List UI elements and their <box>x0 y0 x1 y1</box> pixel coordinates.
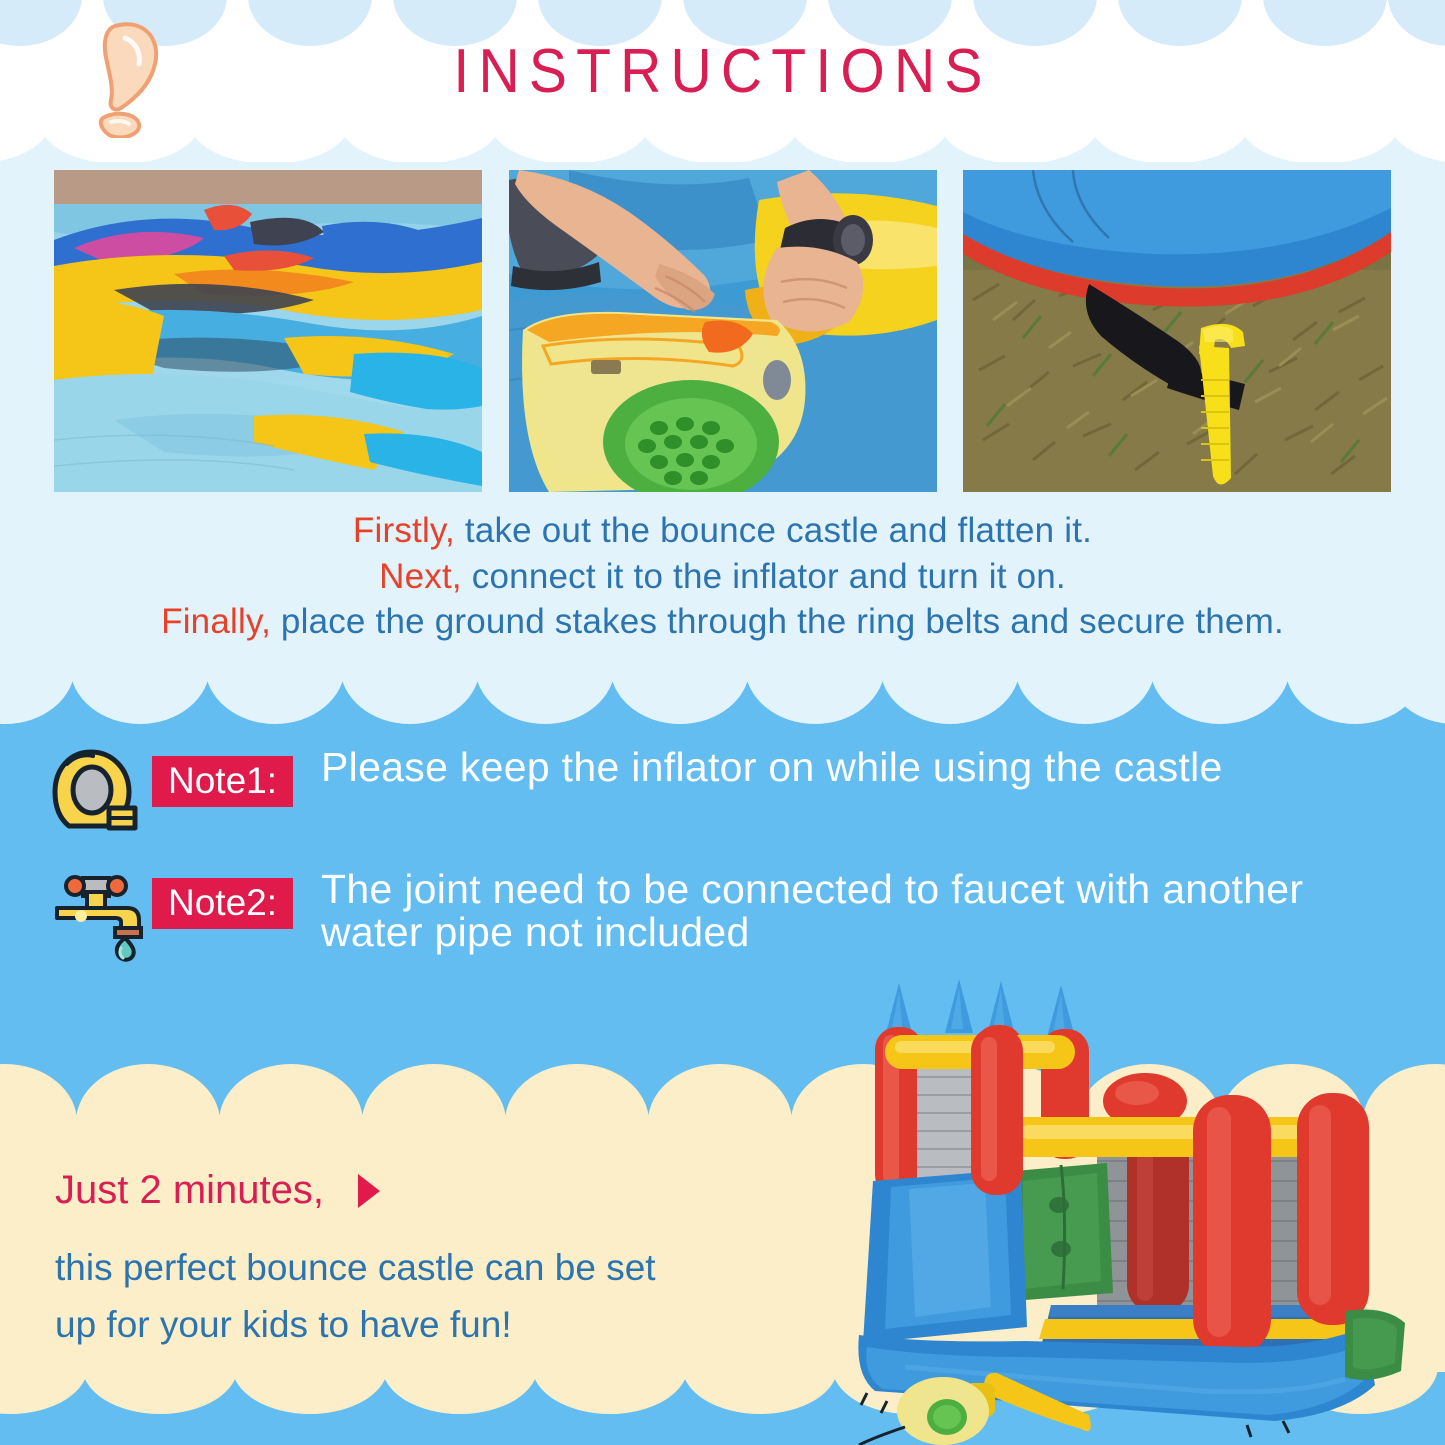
note-badge-2: Note2: <box>152 878 293 929</box>
outro-headline: Just 2 minutes, <box>55 1168 324 1213</box>
photo-ground-stake <box>963 170 1391 492</box>
note-row-2: Note2: The joint need to be connected to… <box>46 864 1386 964</box>
faucet-water-drop-icon <box>46 864 152 964</box>
steps-text: Firstly, take out the bounce castle and … <box>0 508 1445 645</box>
page-title: INSTRUCTIONS <box>58 36 1387 107</box>
outro-section: Just 2 minutes, this perfect bounce cast… <box>55 1168 855 1354</box>
notes-section: Note1: Please keep the inflator on while… <box>46 742 1386 986</box>
note-text-1: Please keep the inflator on while using … <box>321 742 1223 789</box>
triangle-right-icon <box>358 1174 380 1208</box>
instructions-infographic: INSTRUCTIONS <box>0 0 1445 1445</box>
outro-body-line-2: up for your kids to have fun! <box>55 1296 855 1353</box>
note-text-2: The joint need to be connected to faucet… <box>321 864 1386 955</box>
step-lead-3: Finally, <box>161 602 271 641</box>
step-line-1: Firstly, take out the bounce castle and … <box>0 508 1445 554</box>
photo-row <box>54 170 1391 492</box>
bounce-castle-illustration <box>845 975 1445 1445</box>
step-lead-2: Next, <box>379 557 462 596</box>
tape-measure-icon <box>46 742 152 842</box>
note-badge-1: Note1: <box>152 756 293 807</box>
outro-headline-row: Just 2 minutes, <box>55 1168 855 1213</box>
step-rest-1: take out the bounce castle and flatten i… <box>455 511 1092 550</box>
step-line-3: Finally, place the ground stakes through… <box>0 599 1445 645</box>
step-line-2: Next, connect it to the inflator and tur… <box>0 554 1445 600</box>
step-lead-1: Firstly, <box>353 511 455 550</box>
outro-body-line-1: this perfect bounce castle can be set <box>55 1239 855 1296</box>
step-rest-3: place the ground stakes through the ring… <box>271 602 1284 641</box>
step-rest-2: connect it to the inflator and turn it o… <box>462 557 1066 596</box>
photo-flatten-castle <box>54 170 482 492</box>
header: INSTRUCTIONS <box>0 0 1445 150</box>
note-row-1: Note1: Please keep the inflator on while… <box>46 742 1386 842</box>
photo-connect-inflator <box>509 170 937 492</box>
